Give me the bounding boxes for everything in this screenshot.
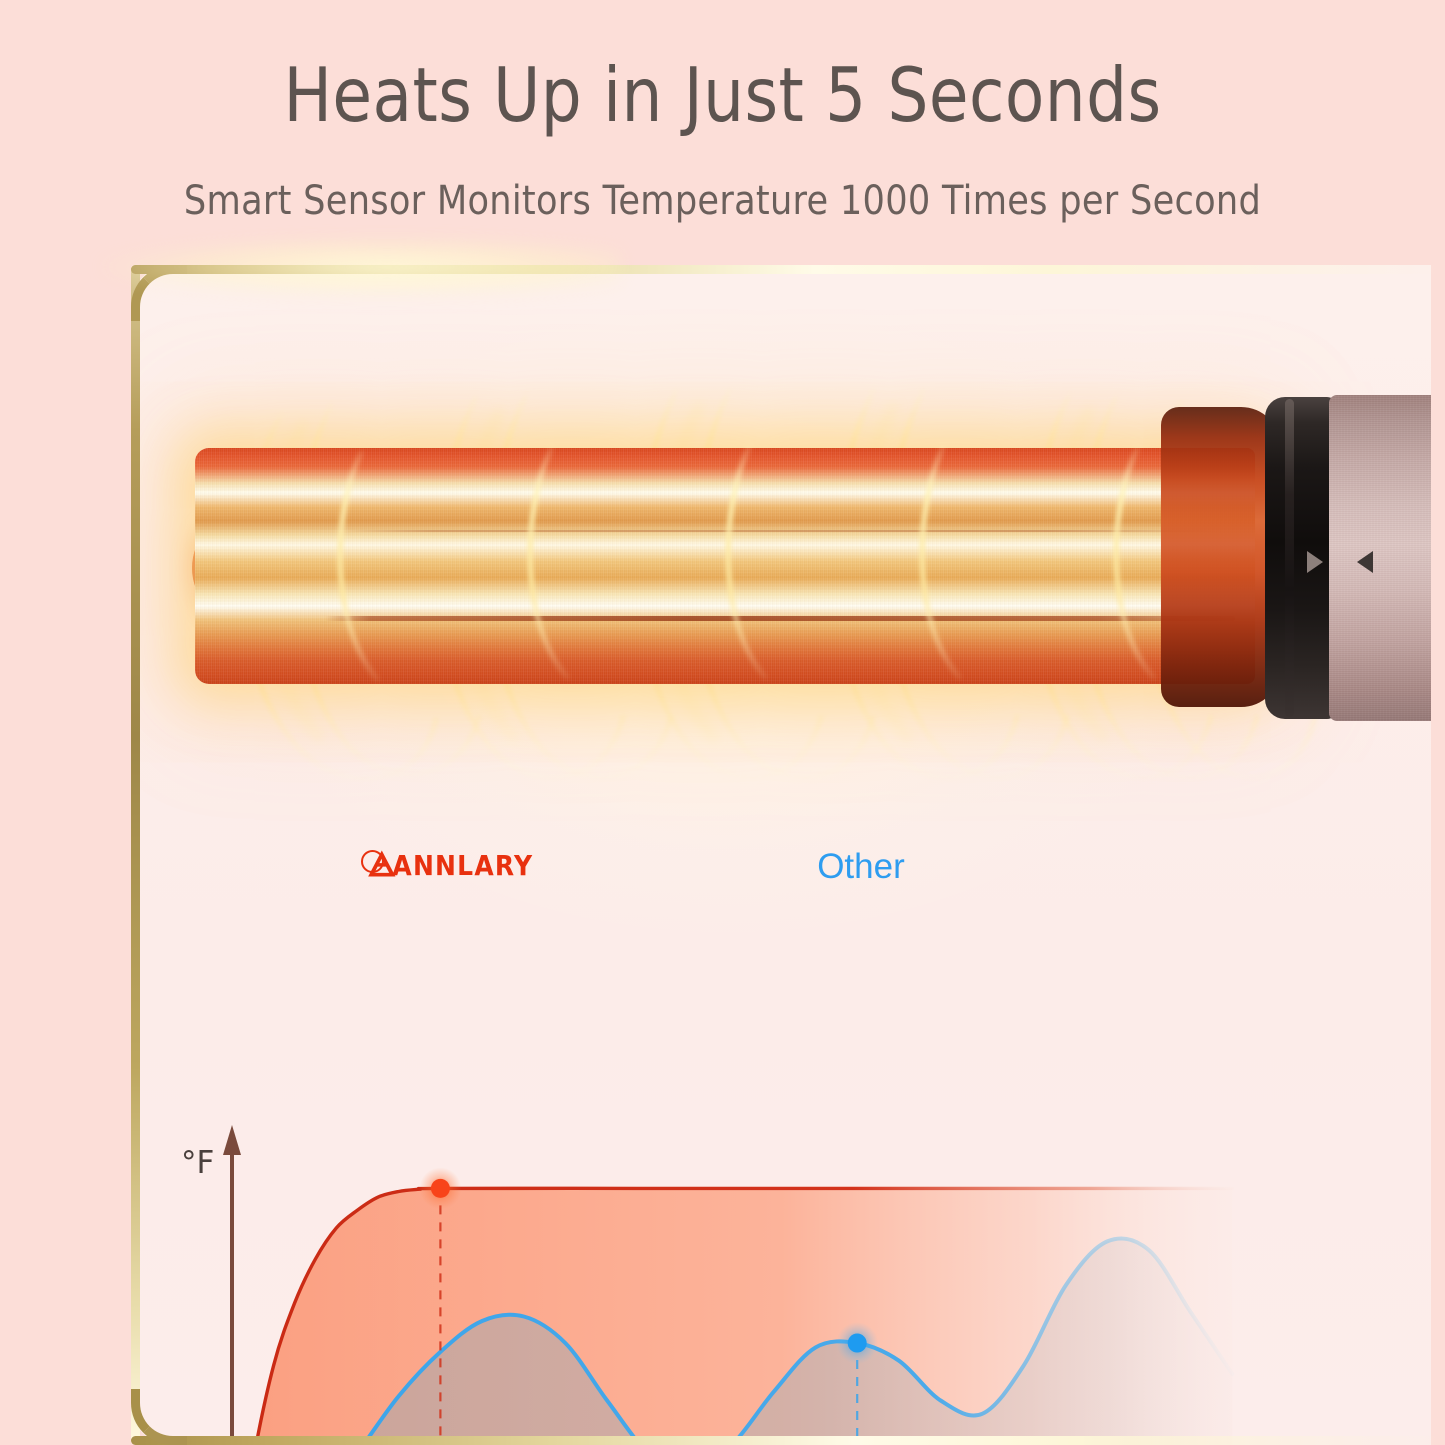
- product-image: [131, 265, 1431, 825]
- barrel-seam-upper: [345, 530, 1225, 532]
- triangle-right-icon: [1307, 551, 1323, 573]
- barrel-seam-lower: [325, 616, 1235, 621]
- barrel-texture: [195, 448, 1255, 684]
- triangle-left-icon: [1357, 551, 1373, 573]
- annlary-flame-icon: 🜁: [361, 848, 391, 882]
- handle-black-ring: [1265, 397, 1337, 719]
- marker-dot-other: [848, 1334, 867, 1353]
- page-subtitle: Smart Sensor Monitors Temperature 1000 T…: [87, 178, 1359, 224]
- product-card: °F 0 5 10 15 20 Times 🜁 ANNLARY Other: [131, 265, 1431, 1445]
- chart-canvas: [131, 825, 1431, 1445]
- device-handle: [1161, 393, 1431, 723]
- legend-other-label: Other: [817, 847, 905, 887]
- legend-annlary-label: ANNLARY: [392, 849, 533, 881]
- y-axis-label: °F: [181, 1145, 214, 1181]
- temperature-chart: °F 0 5 10 15 20 Times 🜁 ANNLARY Other: [131, 825, 1431, 1445]
- page-title: Heats Up in Just 5 Seconds: [101, 58, 1344, 133]
- header: Heats Up in Just 5 Seconds Smart Sensor …: [0, 0, 1445, 252]
- handle-barrel-body: [1329, 395, 1431, 721]
- heating-barrel: [195, 448, 1255, 684]
- handle-groove: [1285, 399, 1294, 717]
- marker-dot-annlary: [431, 1179, 450, 1198]
- legend-annlary: 🜁 ANNLARY: [361, 848, 533, 882]
- handle-transition: [1161, 407, 1281, 707]
- handle-texture: [1329, 395, 1431, 721]
